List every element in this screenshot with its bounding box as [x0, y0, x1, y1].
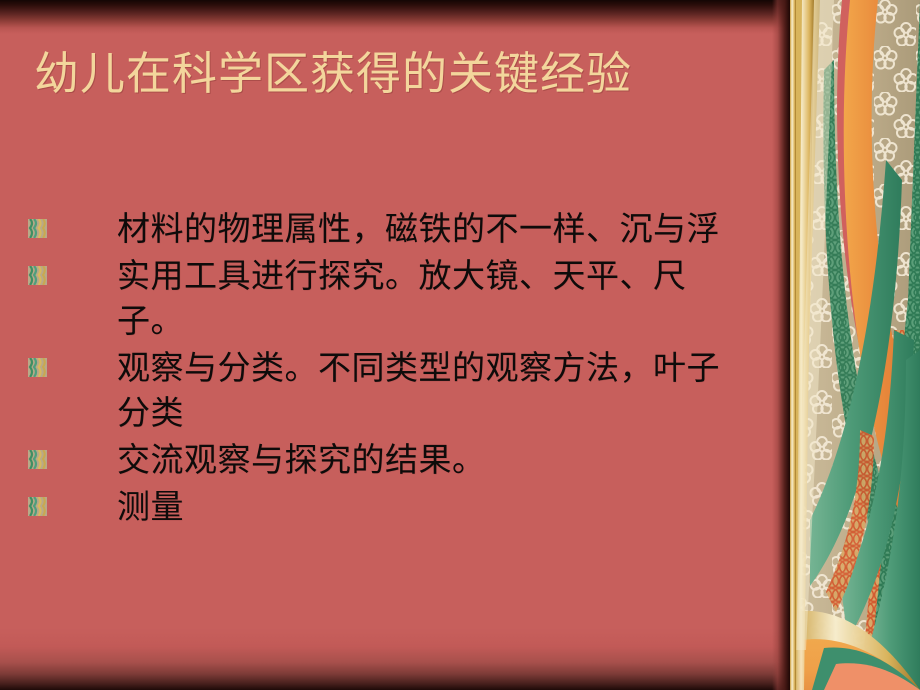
list-item-label: 测量	[117, 486, 744, 531]
bottom-shadow-gradient	[0, 628, 792, 690]
list-item-label: 交流观察与探究的结果。	[117, 439, 744, 484]
list-item: 观察与分类。不同类型的观察方法，叶子分类	[28, 347, 744, 437]
ornament-square-bullet-icon	[28, 358, 47, 377]
list-item-label: 材料的物理属性，磁铁的不一样、沉与浮	[117, 208, 744, 253]
ornament-square-bullet-icon	[28, 450, 47, 469]
presentation-slide: 幼儿在科学区获得的关键经验 材料的物理属性，磁铁的不一样、沉与浮	[0, 0, 920, 690]
floral-ribbon-border	[790, 0, 920, 690]
list-item-label: 观察与分类。不同类型的观察方法，叶子分类	[117, 347, 744, 437]
ornament-square-bullet-icon	[28, 497, 47, 516]
ornament-square-bullet-icon	[28, 219, 47, 238]
list-item: 材料的物理属性，磁铁的不一样、沉与浮	[28, 208, 744, 253]
top-shadow-gradient	[0, 0, 792, 34]
bullet-list: 材料的物理属性，磁铁的不一样、沉与浮 实用工具进行探究。放大镜、天平、尺子。	[28, 208, 744, 533]
ornament-square-bullet-icon	[28, 266, 47, 285]
list-item: 交流观察与探究的结果。	[28, 439, 744, 484]
list-item: 实用工具进行探究。放大镜、天平、尺子。	[28, 255, 744, 345]
list-item-label: 实用工具进行探究。放大镜、天平、尺子。	[117, 255, 744, 345]
list-item: 测量	[28, 486, 744, 531]
slide-title: 幼儿在科学区获得的关键经验	[34, 48, 754, 101]
